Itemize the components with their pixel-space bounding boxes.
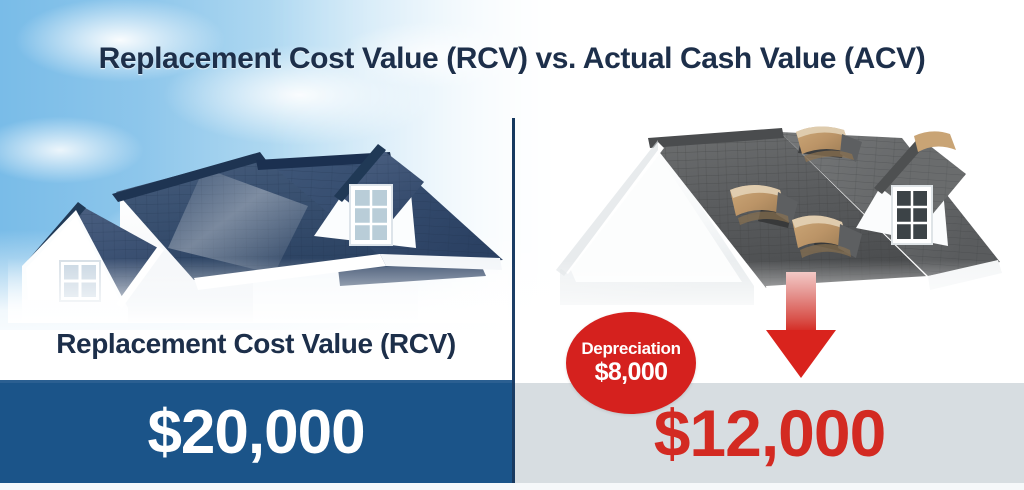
left-panel-rcv: Replacement Cost Value (RCV) $20,000 xyxy=(0,0,512,490)
red-down-arrow-icon xyxy=(764,272,838,380)
rcv-value-bar: $20,000 xyxy=(0,383,512,483)
depreciation-amount: $8,000 xyxy=(595,359,668,387)
rcv-value: $20,000 xyxy=(147,402,364,464)
depreciation-label: Depreciation xyxy=(581,340,680,358)
rcv-caption: Replacement Cost Value (RCV) xyxy=(0,328,512,360)
rcv-vs-acv-infographic: Replacement Cost Value (RCV) vs. Actual … xyxy=(0,0,1024,490)
acv-value: $12,000 xyxy=(654,400,886,466)
bottom-strip xyxy=(0,483,1024,490)
depreciation-badge: Depreciation $8,000 xyxy=(566,312,696,414)
intact-house-roof-illustration xyxy=(8,108,508,323)
